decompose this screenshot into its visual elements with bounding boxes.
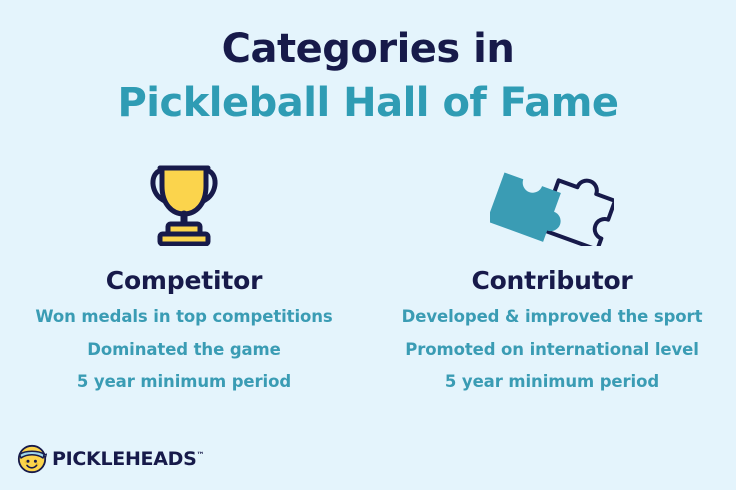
category-heading-competitor: Competitor: [106, 266, 262, 295]
category-bullets-contributor: Developed & improved the sport Promoted …: [402, 309, 703, 391]
category-bullets-competitor: Won medals in top competitions Dominated…: [35, 309, 332, 391]
bullet-item: Promoted on international level: [405, 342, 699, 359]
puzzle-pieces-icon: [490, 160, 614, 246]
category-heading-contributor: Contributor: [471, 266, 632, 295]
page-title: Categories in Pickleball Hall of Fame: [0, 24, 736, 128]
bullet-item: Developed & improved the sport: [402, 309, 703, 326]
bullet-item: Dominated the game: [87, 342, 281, 359]
infographic-canvas: Categories in Pickleball Hall of Fame: [0, 0, 736, 490]
pickleball-face-logo-icon: [17, 444, 47, 474]
brand-wordmark: PICKLEHEADS™: [52, 450, 204, 469]
trophy-icon: [146, 160, 222, 246]
category-column-contributor: Contributor Developed & improved the spo…: [368, 160, 736, 391]
title-line-1: Categories in: [0, 24, 736, 74]
title-line-2: Pickleball Hall of Fame: [0, 78, 736, 128]
brand-wordmark-text: PICKLEHEADS: [52, 448, 197, 470]
brand-logo[interactable]: PICKLEHEADS™: [17, 444, 204, 474]
bullet-item: 5 year minimum period: [445, 374, 659, 391]
trademark-symbol: ™: [197, 450, 205, 459]
bullet-item: 5 year minimum period: [77, 374, 291, 391]
category-column-competitor: Competitor Won medals in top competition…: [0, 160, 368, 391]
bullet-item: Won medals in top competitions: [35, 309, 332, 326]
category-columns: Competitor Won medals in top competition…: [0, 160, 736, 391]
